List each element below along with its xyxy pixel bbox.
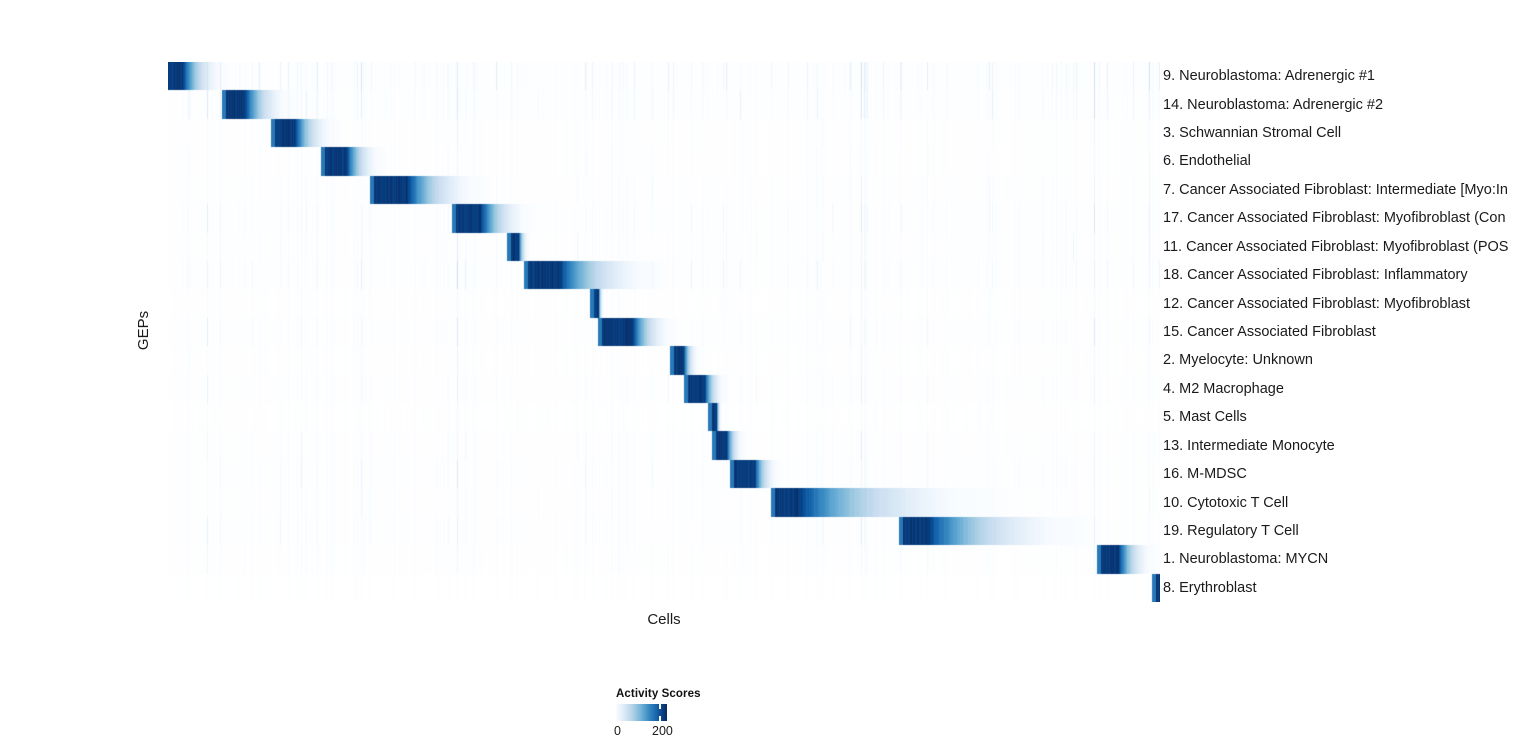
row-label: 1. Neuroblastoma: MYCN (1163, 550, 1328, 568)
row-label-list: 9. Neuroblastoma: Adrenergic #114. Neuro… (1163, 62, 1540, 605)
heatmap-matrix[interactable] (168, 62, 1160, 602)
y-axis-title-text: GEPs (136, 310, 153, 349)
legend-tick-bottom (659, 716, 661, 722)
row-label: 13. Intermediate Monocyte (1163, 437, 1335, 455)
legend-min-label: 0 (614, 724, 621, 738)
row-label: 5. Mast Cells (1163, 408, 1247, 426)
row-label: 18. Cancer Associated Fibroblast: Inflam… (1163, 266, 1468, 284)
row-label: 10. Cytotoxic T Cell (1163, 494, 1288, 512)
row-label: 8. Erythroblast (1163, 579, 1257, 597)
row-label: 14. Neuroblastoma: Adrenergic #2 (1163, 96, 1383, 114)
legend-tick-top (659, 703, 661, 709)
legend-max-label: 200 (652, 724, 673, 738)
row-label: 3. Schwannian Stromal Cell (1163, 124, 1341, 142)
heatmap-canvas[interactable] (168, 62, 1160, 602)
row-label: 7. Cancer Associated Fibroblast: Interme… (1163, 181, 1508, 199)
y-axis-title: GEPs (133, 270, 155, 390)
x-axis-title: Cells (168, 611, 1160, 628)
row-label: 16. M-MDSC (1163, 465, 1247, 483)
legend-title: Activity Scores (616, 688, 795, 700)
row-label: 6. Endothelial (1163, 152, 1251, 170)
row-label: 11. Cancer Associated Fibroblast: Myofib… (1163, 238, 1508, 256)
row-label: 4. M2 Macrophage (1163, 380, 1284, 398)
row-label: 2. Myelocyte: Unknown (1163, 351, 1313, 369)
row-label: 9. Neuroblastoma: Adrenergic #1 (1163, 67, 1375, 85)
row-label: 17. Cancer Associated Fibroblast: Myofib… (1163, 209, 1506, 227)
legend-gradient-bar: 0 200 (615, 704, 667, 721)
row-label: 19. Regulatory T Cell (1163, 522, 1299, 540)
heatmap-figure: GEPs Cells 9. Neuroblastoma: Adrenergic … (0, 0, 1540, 743)
row-label: 12. Cancer Associated Fibroblast: Myofib… (1163, 295, 1470, 313)
row-label: 15. Cancer Associated Fibroblast (1163, 323, 1376, 341)
colorbar-legend: Activity Scores 0 200 (615, 688, 795, 738)
